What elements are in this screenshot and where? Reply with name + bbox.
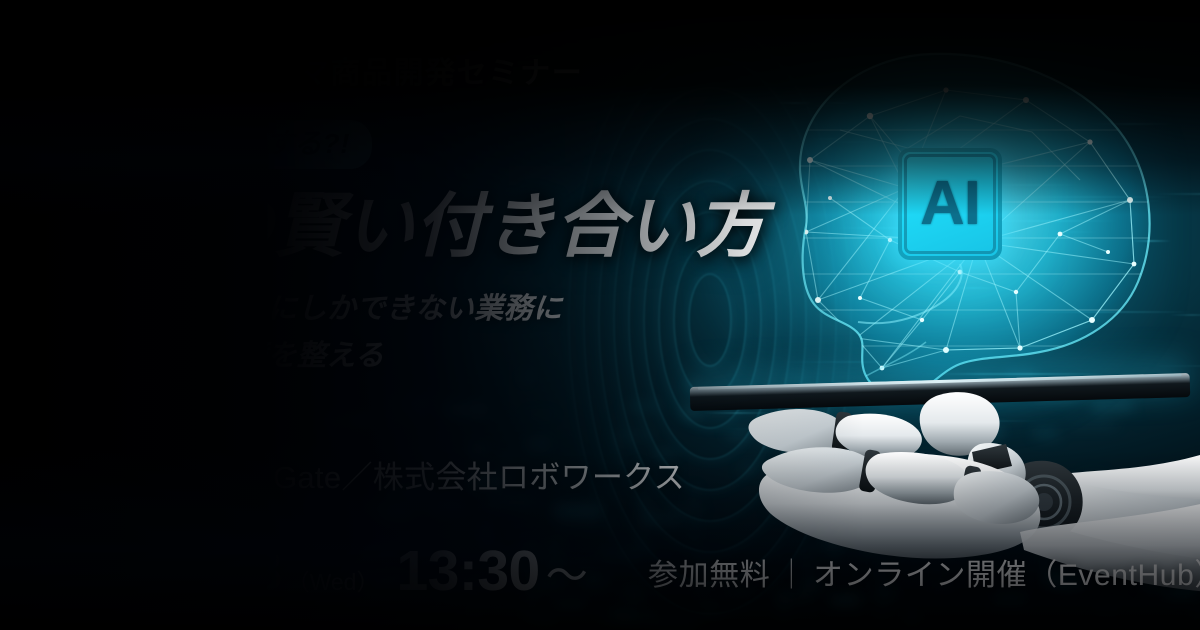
bottom-vignette: [0, 450, 1200, 630]
seminar-banner: AI: [0, 0, 1200, 630]
top-vignette: [0, 0, 1200, 215]
